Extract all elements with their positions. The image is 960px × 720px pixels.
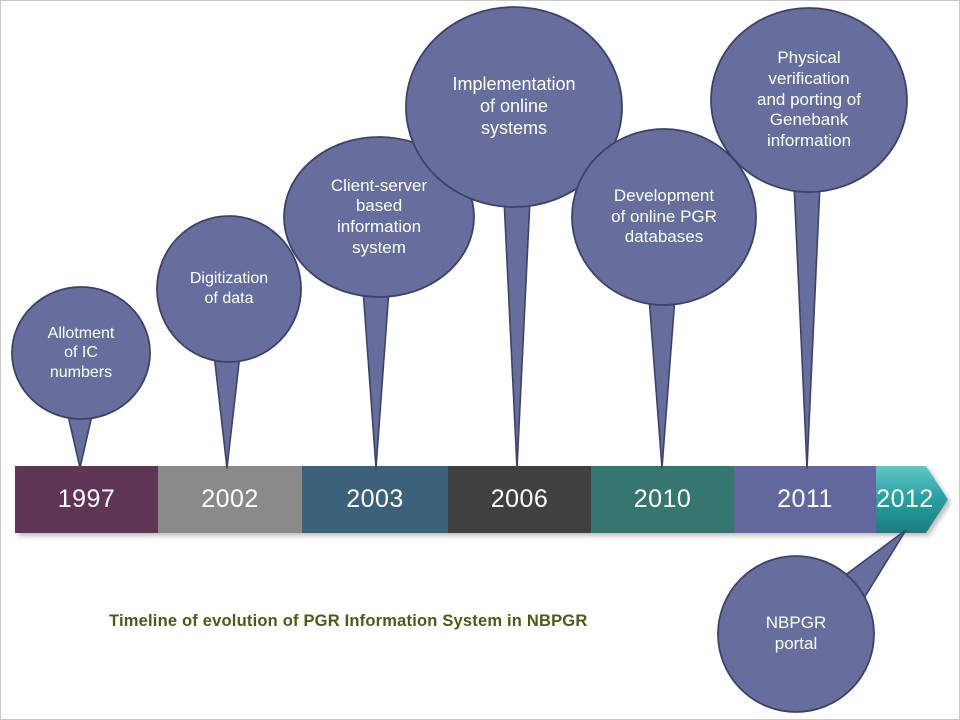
callout-2002-bubble[interactable] — [157, 216, 301, 362]
timeline-segment-2006[interactable] — [448, 466, 591, 533]
callout-2002-tail — [214, 354, 240, 468]
timeline-diagram: 0% 1997200220032006201020112012Allotment… — [0, 0, 960, 720]
callout-2006-tail — [504, 199, 530, 468]
callout-bubbles — [12, 7, 907, 712]
timeline-bar — [15, 466, 948, 533]
callout-2003-tail — [363, 289, 389, 468]
timeline-segment-1997[interactable] — [15, 466, 158, 533]
timeline-segment-2010[interactable] — [591, 466, 734, 533]
timeline-segment-2011[interactable] — [734, 466, 876, 533]
callout-2011-tail — [794, 184, 820, 468]
timeline-segment-2002[interactable] — [158, 466, 302, 533]
timeline-segment-2012[interactable] — [876, 466, 948, 533]
timeline-segment-2003[interactable] — [302, 466, 448, 533]
callout-2010-tail — [649, 297, 675, 468]
callout-2011-bubble[interactable] — [711, 8, 907, 192]
callout-1997-bubble[interactable] — [12, 287, 150, 419]
callout-2012-bubble[interactable] — [718, 556, 874, 712]
callout-2010-bubble[interactable] — [572, 129, 756, 305]
diagram-caption: Timeline of evolution of PGR Information… — [109, 612, 587, 631]
